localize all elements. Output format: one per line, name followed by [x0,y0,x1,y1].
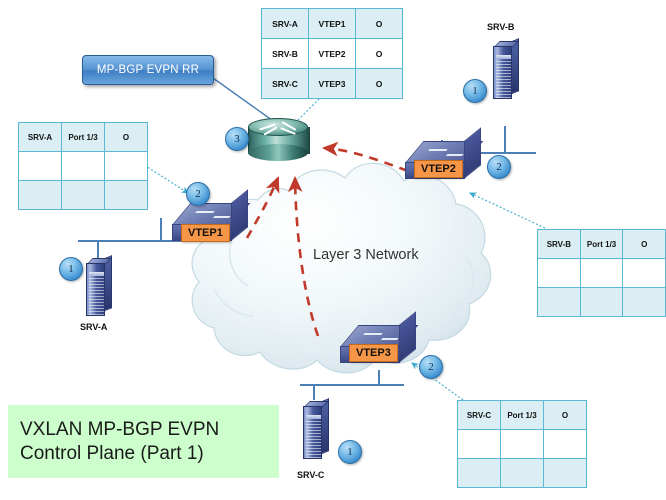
server-bezel [496,55,511,59]
table-row [19,152,148,181]
server-srv-a[interactable] [86,258,112,316]
lan-bus-srv-c [300,384,404,386]
router-bottom [248,144,308,161]
vtep3-mac-table: SRV-C Port 1/3 O [457,400,587,488]
mp-bgp-evpn-rr-label: MP-BGP EVPN RR [97,64,199,76]
server-body [493,46,512,99]
badge-srv-b-step: 1 [463,79,487,103]
lan-drop-srv-c [313,384,315,400]
cell: SRV-A [19,123,62,152]
table-row: SRV-A Port 1/3 O [19,123,148,152]
table-row [538,288,666,317]
server-slots [496,61,511,101]
server-bezel [306,415,321,419]
switch-vtep3-label: VTEP3 [349,344,398,362]
diagram-title-line-2: Control Plane (Part 1) [20,442,204,466]
lan-bus-srv-a [78,240,186,242]
cell [623,288,666,317]
table-row: SRV-B Port 1/3 O [538,230,666,259]
cell [105,181,148,210]
server-srv-c[interactable] [303,401,329,459]
cell: O [623,230,666,259]
lan-drop-srv-b [504,126,506,153]
server-body [303,406,322,459]
cell [580,259,623,288]
callout-vtep1-table [141,163,188,193]
badge-vtep3-step: 2 [419,355,443,379]
cell: O [544,401,587,430]
cell [538,259,581,288]
server-bezel [89,272,104,276]
router-top [248,118,308,136]
badge-srv-a-step: 1 [59,257,83,281]
server-body [86,263,105,316]
diagram-title-line-1: VXLAN MP-BGP EVPN [20,418,219,442]
server-srv-a-label: SRV-A [80,322,107,332]
vtep1-mac-table: SRV-A Port 1/3 O [18,122,148,210]
cell: SRV-C [458,401,501,430]
layer3-network-label: Layer 3 Network [313,247,419,263]
table-row: SRV-A VTEP1 O [262,9,403,39]
mp-bgp-evpn-rr-box[interactable]: MP-BGP EVPN RR [82,55,214,85]
table-row: SRV-C VTEP3 O [262,69,403,99]
diagram-canvas: 3 MP-BGP EVPN RR SRV-A VTEP1 O SRV-B VTE… [0,0,666,500]
cell: SRV-B [262,39,309,69]
table-row: SRV-B VTEP2 O [262,39,403,69]
table-row [538,259,666,288]
cell: O [356,39,403,69]
cell: VTEP2 [309,39,356,69]
cell [105,152,148,181]
lan-drop-vtep1 [160,218,162,241]
switch-vtep1-label: VTEP1 [181,224,230,242]
cell: O [356,69,403,99]
route-reflector-router[interactable] [248,118,308,160]
cell: Port 1/3 [580,230,623,259]
cell [501,459,544,488]
table-row: SRV-C Port 1/3 O [458,401,587,430]
cell: VTEP3 [309,69,356,99]
vtep2-mac-table: SRV-B Port 1/3 O [537,229,666,317]
cell [19,152,62,181]
table-row [458,430,587,459]
cell [544,459,587,488]
rr-mac-table: SRV-A VTEP1 O SRV-B VTEP2 O SRV-C VTEP3 … [261,8,403,99]
table-row [19,181,148,210]
cell [62,152,105,181]
badge-vtep1-step: 2 [186,182,210,206]
cell: SRV-B [538,230,581,259]
server-srv-b[interactable] [493,41,519,99]
cell [538,288,581,317]
server-srv-b-label: SRV-B [487,22,514,32]
cell [19,181,62,210]
lan-drop-vtep3 [378,370,380,385]
cell [458,459,501,488]
cell [544,430,587,459]
badge-router-step: 3 [225,127,249,151]
cell: O [105,123,148,152]
cell: Port 1/3 [501,401,544,430]
cell: O [356,9,403,39]
diagram-title-box: VXLAN MP-BGP EVPN Control Plane (Part 1) [8,405,279,478]
switch-vtep2-label: VTEP2 [414,160,463,178]
badge-vtep2-step: 2 [487,155,511,179]
lan-drop-srv-a [97,240,99,258]
cell: Port 1/3 [62,123,105,152]
cell [501,430,544,459]
server-slots [89,278,104,318]
cell: VTEP1 [309,9,356,39]
server-slots [306,421,321,461]
cell [580,288,623,317]
cell [623,259,666,288]
server-srv-c-label: SRV-C [297,470,324,480]
badge-srv-c-step: 1 [338,440,362,464]
cell: SRV-A [262,9,309,39]
cell [458,430,501,459]
cell [62,181,105,210]
cell: SRV-C [262,69,309,99]
table-row [458,459,587,488]
